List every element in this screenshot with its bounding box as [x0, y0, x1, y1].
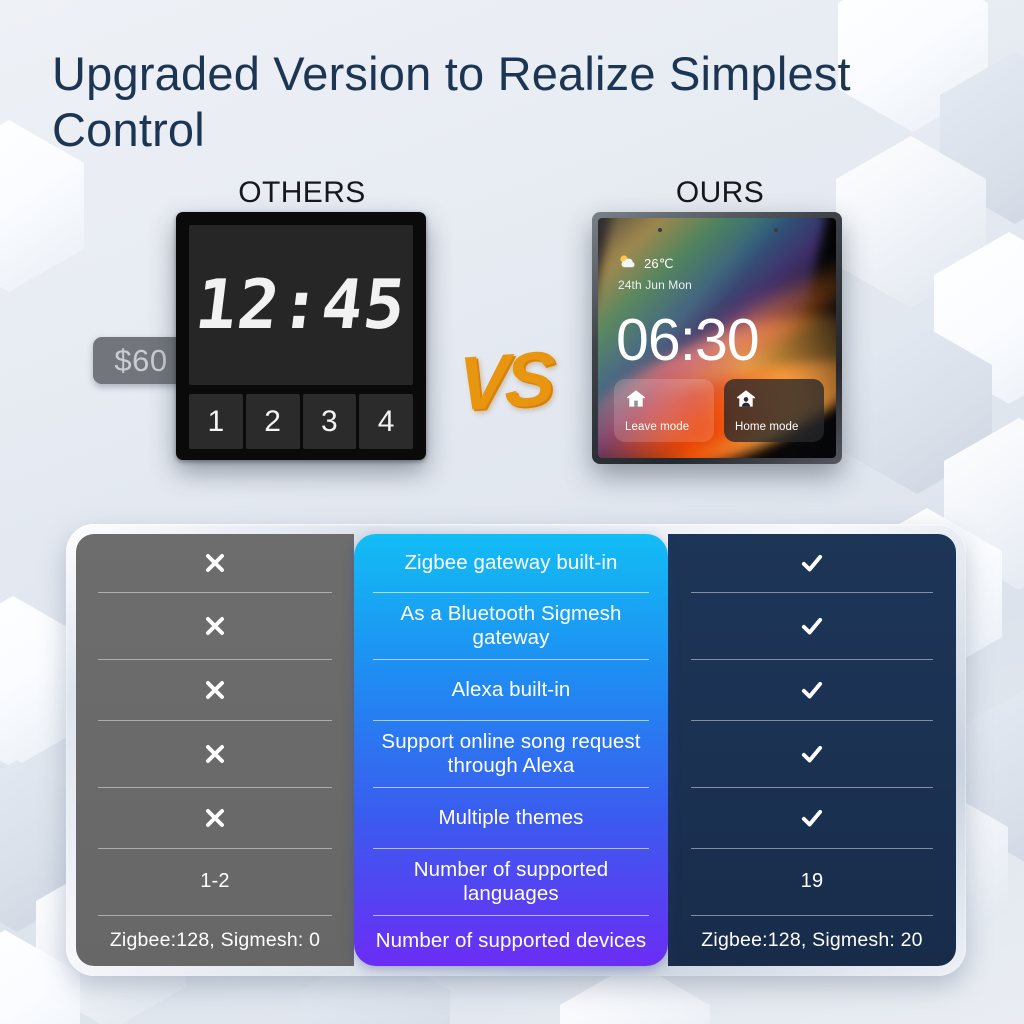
date-value: 24th Jun Mon — [618, 278, 692, 292]
sensor-dot-icon — [658, 228, 662, 232]
ours-value-cell: Zigbee:128, Sigmesh: 20 — [668, 915, 956, 966]
others-device: 12:45 1 2 3 4 — [176, 212, 426, 460]
others-comparison-column: 1-2Zigbee:128, Sigmesh: 0 — [76, 534, 354, 966]
others-value-text: Zigbee:128, Sigmesh: 0 — [110, 929, 320, 952]
check-icon — [799, 677, 825, 703]
feature-row: Multiple themes — [354, 787, 668, 848]
vs-label: VS — [457, 335, 552, 429]
ours-screen: 26℃ 24th Jun Mon 06:30 Leave mode — [598, 218, 836, 458]
ours-value-text: 19 — [801, 870, 824, 893]
others-value-cell: Zigbee:128, Sigmesh: 0 — [76, 915, 354, 966]
cross-icon — [202, 613, 228, 639]
check-icon — [799, 613, 825, 639]
feature-row: Zigbee gateway built-in — [354, 534, 668, 592]
feature-label: As a Bluetooth Sigmesh gateway — [354, 602, 668, 650]
feature-label: Alexa built-in — [438, 678, 585, 702]
feature-row: As a Bluetooth Sigmesh gateway — [354, 592, 668, 659]
mode-button-row: Leave mode Home mode — [614, 379, 824, 442]
feature-label: Support online song request through Alex… — [354, 730, 668, 778]
ours-value-cell: 19 — [668, 848, 956, 915]
others-value-cell — [76, 787, 354, 848]
sun-cloud-icon — [618, 254, 637, 274]
others-button-row: 1 2 3 4 — [189, 394, 413, 449]
ours-value-cell — [668, 659, 956, 720]
check-icon — [799, 550, 825, 576]
others-value-cell — [76, 534, 354, 592]
feature-row: Number of supported languages — [354, 848, 668, 915]
ours-value-text: Zigbee:128, Sigmesh: 20 — [701, 929, 922, 952]
others-value-cell: 1-2 — [76, 848, 354, 915]
others-lcd-time: 12:45 — [191, 266, 410, 345]
home-mode-label: Home mode — [735, 421, 813, 433]
comparison-card: 1-2Zigbee:128, Sigmesh: 0 Zigbee gateway… — [66, 524, 966, 976]
ours-value-cell — [668, 720, 956, 787]
feature-row: Number of supported devices — [354, 915, 668, 966]
leave-mode-label: Leave mode — [625, 421, 703, 433]
house-icon — [625, 388, 703, 413]
others-button-2[interactable]: 2 — [246, 394, 300, 449]
feature-row: Alexa built-in — [354, 659, 668, 720]
check-icon — [799, 805, 825, 831]
cross-icon — [202, 741, 228, 767]
others-value-cell — [76, 720, 354, 787]
others-button-4[interactable]: 4 — [359, 394, 413, 449]
others-button-1[interactable]: 1 — [189, 394, 243, 449]
check-icon — [799, 741, 825, 767]
person-icon — [735, 388, 813, 413]
temperature-value: 26℃ — [644, 256, 674, 272]
others-lcd-screen: 12:45 — [189, 225, 413, 385]
feature-label: Number of supported languages — [354, 858, 668, 906]
home-mode-button[interactable]: Home mode — [724, 379, 824, 442]
others-column-label: OTHERS — [202, 176, 402, 210]
feature-comparison-column: Zigbee gateway built-inAs a Bluetooth Si… — [354, 534, 668, 966]
feature-row: Support online song request through Alex… — [354, 720, 668, 787]
others-button-3[interactable]: 3 — [303, 394, 357, 449]
infographic-stage: Upgraded Version to Realize Simplest Con… — [0, 0, 1024, 1024]
page-title: Upgraded Version to Realize Simplest Con… — [52, 46, 992, 158]
feature-label: Number of supported devices — [362, 929, 660, 953]
weather-widget[interactable]: 26℃ 24th Jun Mon — [618, 254, 692, 292]
ours-value-cell — [668, 534, 956, 592]
ours-column-label: OURS — [632, 176, 808, 210]
ours-clock: 06:30 — [616, 306, 759, 374]
price-badge: $60 — [93, 337, 189, 384]
leave-mode-button[interactable]: Leave mode — [614, 379, 714, 442]
others-value-cell — [76, 659, 354, 720]
cross-icon — [202, 677, 228, 703]
cross-icon — [202, 805, 228, 831]
sensor-dot-icon — [774, 228, 778, 232]
cross-icon — [202, 550, 228, 576]
ours-comparison-column: 19Zigbee:128, Sigmesh: 20 — [668, 534, 956, 966]
feature-label: Multiple themes — [424, 806, 597, 830]
ours-device: 26℃ 24th Jun Mon 06:30 Leave mode — [592, 212, 842, 464]
others-value-text: 1-2 — [200, 870, 230, 893]
feature-label: Zigbee gateway built-in — [390, 551, 631, 575]
others-value-cell — [76, 592, 354, 659]
ours-value-cell — [668, 787, 956, 848]
ours-value-cell — [668, 592, 956, 659]
